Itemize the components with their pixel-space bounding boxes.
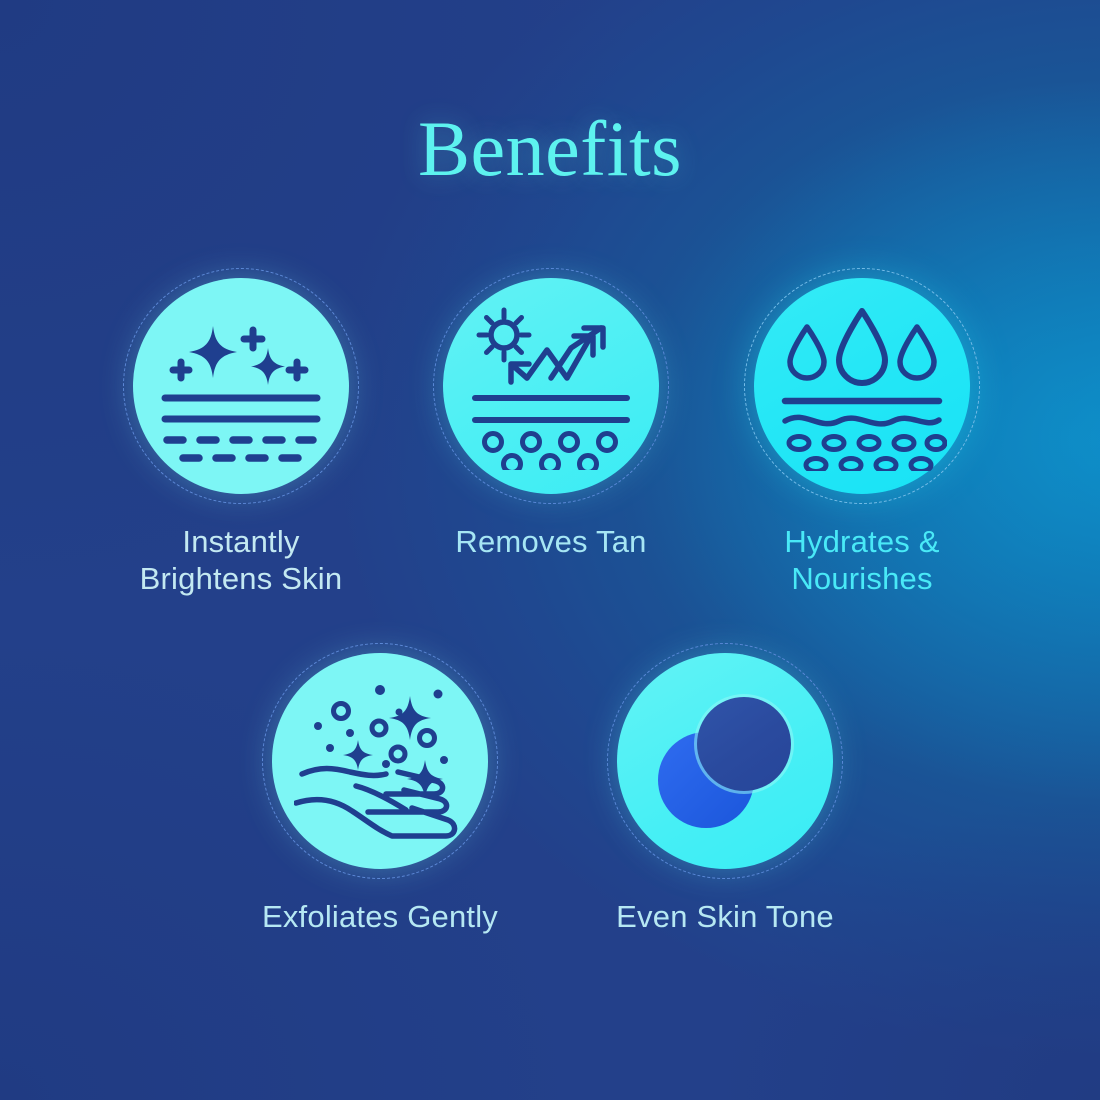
benefit-label-line2: Brightens Skin: [116, 561, 366, 598]
benefit-label: Hydrates & Nourishes: [737, 524, 987, 597]
benefit-label-line1: Even Skin Tone: [616, 899, 834, 934]
icon-disc: [617, 653, 833, 869]
benefit-label-line1: Exfoliates Gently: [262, 899, 498, 934]
sparkle-skin-layers-icon: [155, 300, 327, 472]
benefits-infographic: Benefits: [0, 0, 1100, 1100]
icon-circle-wrap: [443, 278, 659, 494]
benefit-label: Even Skin Tone: [600, 899, 850, 936]
benefit-label: Instantly Brightens Skin: [116, 524, 366, 597]
benefit-label-line1: Instantly: [182, 524, 299, 559]
benefit-item-removes-tan[interactable]: Removes Tan: [426, 278, 676, 561]
icon-disc: [754, 278, 970, 494]
benefit-label-line1: Removes Tan: [455, 524, 646, 559]
benefit-label-line2: Nourishes: [737, 561, 987, 598]
hand-sparkles-scrub-icon: [294, 678, 466, 844]
icon-disc: [443, 278, 659, 494]
icon-circle-wrap: [754, 278, 970, 494]
benefit-item-even-skin-tone[interactable]: Even Skin Tone: [600, 653, 850, 936]
benefit-item-instantly-brightens-skin[interactable]: Instantly Brightens Skin: [116, 278, 366, 597]
overlapping-circles-skin-tone-icon: [650, 686, 800, 836]
benefit-item-hydrates-nourishes[interactable]: Hydrates & Nourishes: [737, 278, 987, 597]
benefit-label: Exfoliates Gently: [255, 899, 505, 936]
icon-circle-wrap: [617, 653, 833, 869]
icon-disc: [272, 653, 488, 869]
icon-circle-wrap: [272, 653, 488, 869]
water-droplets-skin-icon: [777, 301, 947, 471]
benefit-label: Removes Tan: [426, 524, 676, 561]
page-title: Benefits: [0, 104, 1100, 194]
icon-circle-wrap: [133, 278, 349, 494]
sun-deflect-arrows-skin-icon: [467, 302, 635, 470]
benefit-label-line1: Hydrates &: [784, 524, 939, 559]
icon-disc: [133, 278, 349, 494]
benefit-item-exfoliates-gently[interactable]: Exfoliates Gently: [255, 653, 505, 936]
